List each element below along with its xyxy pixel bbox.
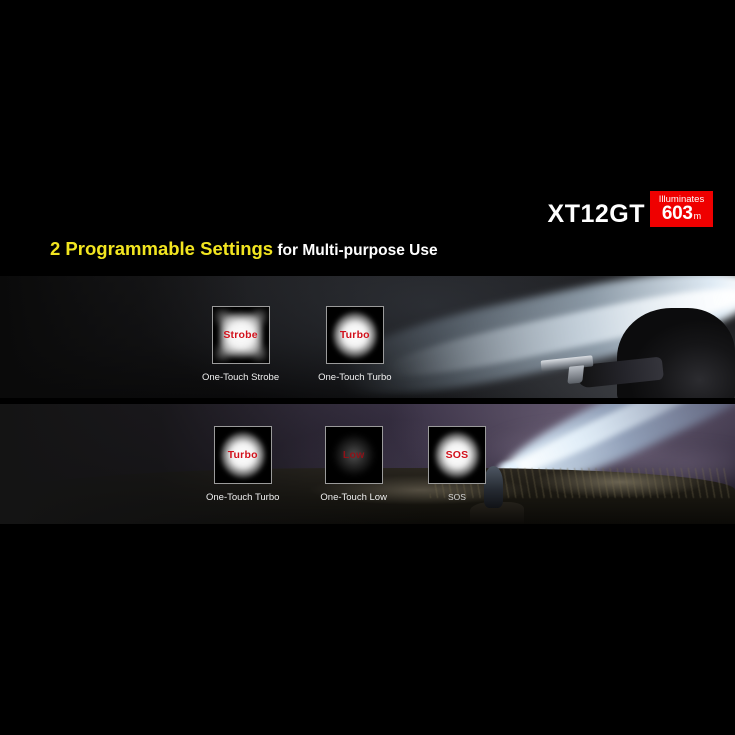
outdoor-mode-list: Turbo One-Touch Turbo Low One-Touch Low … bbox=[206, 426, 486, 503]
tactical-mode-list: Strobe One-Touch Strobe Turbo One-Touch … bbox=[202, 306, 392, 383]
headline-rest: for Multi-purpose Use bbox=[273, 242, 437, 259]
mode-caption: One-Touch Strobe bbox=[202, 372, 279, 383]
mode-item[interactable]: SOS SOS bbox=[428, 426, 486, 502]
illumination-distance-badge: Illuminates 603 m bbox=[650, 191, 713, 227]
badge-distance-value: 603 bbox=[662, 205, 693, 223]
mode-item[interactable]: Low One-Touch Low bbox=[320, 426, 387, 503]
mode-caption: One-Touch Turbo bbox=[318, 372, 391, 383]
badge-distance: 603 m bbox=[662, 205, 701, 225]
mode-item[interactable]: Strobe One-Touch Strobe bbox=[202, 306, 279, 383]
mode-item[interactable]: Turbo One-Touch Turbo bbox=[206, 426, 279, 503]
headline-highlight: 2 Programmable Settings bbox=[50, 238, 273, 259]
badge-distance-unit: m bbox=[694, 207, 702, 225]
mode-caption: One-Touch Low bbox=[320, 492, 387, 503]
headline: 2 Programmable Settings for Multi-purpos… bbox=[50, 238, 438, 260]
mode-tile-sos[interactable]: SOS bbox=[428, 426, 486, 484]
mode-tile-text: SOS bbox=[446, 449, 469, 461]
product-model-name: XT12GT bbox=[548, 202, 645, 227]
mode-tile-turbo[interactable]: Turbo bbox=[326, 306, 384, 364]
promo-banner: XT12GT Illuminates 603 m 2 Programmable … bbox=[0, 0, 735, 735]
mode-caption: One-Touch Turbo bbox=[206, 492, 279, 503]
mode-tile-low[interactable]: Low bbox=[325, 426, 383, 484]
mode-tile-strobe[interactable]: Strobe bbox=[212, 306, 270, 364]
mode-tile-text: Strobe bbox=[223, 329, 257, 341]
mode-tile-text: Low bbox=[343, 449, 365, 461]
mode-item[interactable]: Turbo One-Touch Turbo bbox=[318, 306, 391, 383]
mode-tile-turbo[interactable]: Turbo bbox=[214, 426, 272, 484]
mode-tile-text: Turbo bbox=[340, 329, 370, 341]
mode-tile-text: Turbo bbox=[228, 449, 258, 461]
mode-caption: SOS bbox=[448, 492, 466, 502]
product-header: XT12GT Illuminates 603 m bbox=[0, 188, 735, 232]
